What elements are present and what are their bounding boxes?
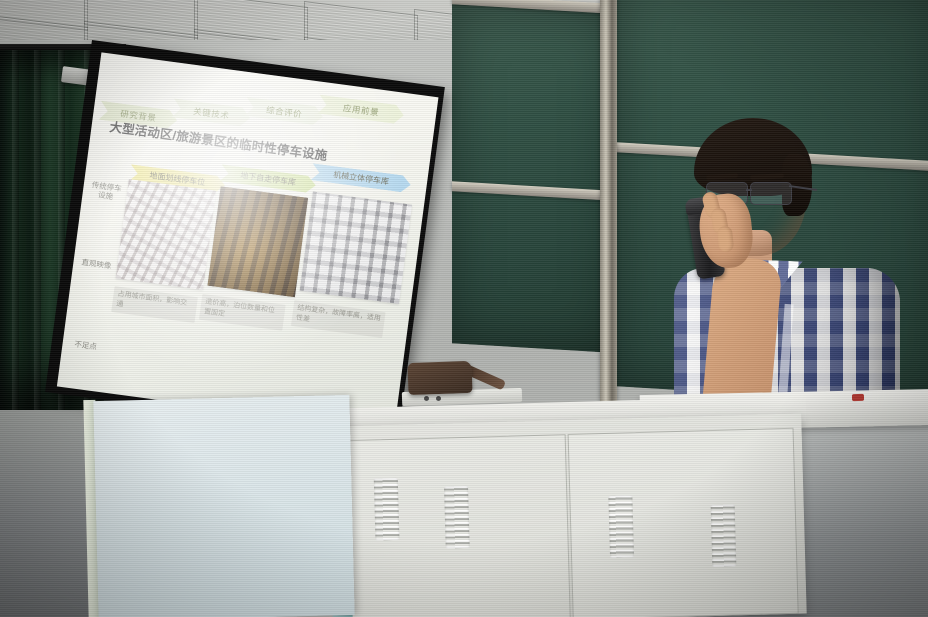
slide-row-label-2: 不足点 bbox=[68, 339, 103, 353]
presentation-slide: 研究背景 关键技术 综合评价 应用前景 大型活动区/旅游景区的临时性停车设施 地… bbox=[57, 52, 439, 431]
slide-row-label-1: 直观映像 bbox=[79, 257, 114, 271]
slide-nav-item-2: 综合评价 bbox=[244, 97, 324, 126]
red-object-on-desk bbox=[852, 394, 864, 401]
presenter bbox=[660, 108, 910, 428]
slide-nav-item-3: 应用前景 bbox=[317, 95, 405, 125]
glasses-bridge bbox=[746, 189, 752, 191]
projection-screen: 研究背景 关键技术 综合评价 应用前景 大型活动区/旅游景区的临时性停车设施 地… bbox=[45, 40, 445, 439]
cabinet-door-left[interactable] bbox=[344, 434, 571, 617]
glasses-temple bbox=[789, 185, 817, 191]
finger bbox=[717, 225, 735, 252]
vent-louver bbox=[444, 486, 470, 549]
slide-note-1: 造价高，泊位数量和位置固定 bbox=[199, 294, 286, 331]
vent-louver bbox=[374, 478, 400, 541]
slide-note-0: 占用城市面积，影响交通 bbox=[111, 286, 198, 323]
lecture-hall-photo: 研究背景 关键技术 综合评价 应用前景 大型活动区/旅游景区的临时性停车设施 地… bbox=[0, 0, 928, 617]
slide-photo-mechanical-garage bbox=[300, 192, 412, 304]
chalkboard-panel-left bbox=[452, 3, 612, 353]
vent-louver bbox=[608, 495, 634, 558]
mount-screw bbox=[424, 396, 429, 401]
slide-photo-surface-lot bbox=[116, 179, 216, 290]
leather-bag bbox=[407, 361, 472, 395]
slide-row-label-0: 传统停车 设施 bbox=[88, 180, 124, 203]
mount-screw bbox=[436, 396, 441, 401]
cabinet-door-right[interactable] bbox=[568, 428, 799, 617]
slide-nav-item-1: 关键技术 bbox=[171, 98, 251, 127]
screen-surface: 研究背景 关键技术 综合评价 应用前景 大型活动区/旅游景区的临时性停车设施 地… bbox=[57, 52, 439, 431]
lens-right bbox=[750, 182, 792, 205]
vent-louver bbox=[711, 504, 737, 567]
panel-board bbox=[93, 395, 354, 617]
chalkboard-vertical-rail bbox=[600, 0, 617, 403]
metal-cabinet bbox=[335, 414, 806, 617]
slide-photo-underground-garage bbox=[208, 186, 308, 297]
